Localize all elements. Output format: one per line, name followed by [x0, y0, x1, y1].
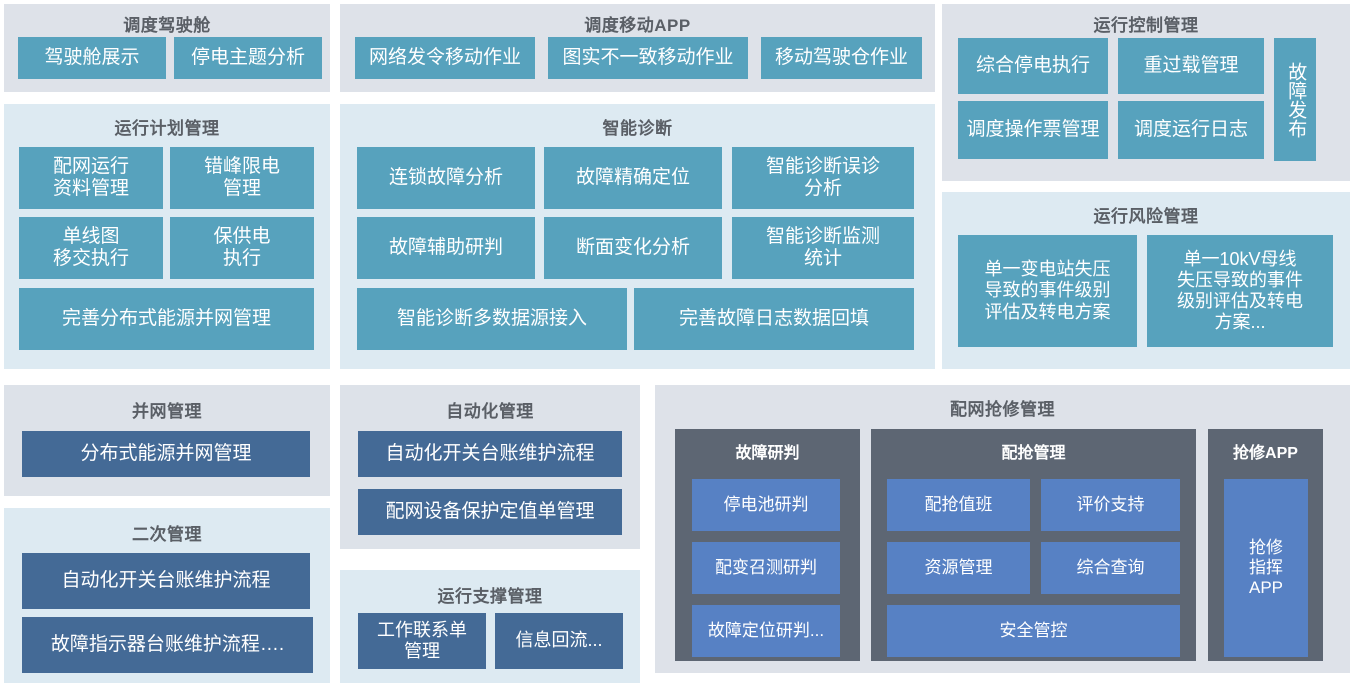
tile-label: 故障指示器台账维护流程…. — [47, 634, 288, 656]
subpanel-title-fault-judgement: 故障研判 — [675, 439, 860, 463]
panel-title-operation-risk-management: 运行风险管理 — [942, 192, 1350, 227]
tile-dispatch-mobile-app-0[interactable]: 网络发令移动作业 — [355, 37, 535, 79]
diagram-canvas: 调度驾驶舱 驾驶舱展示 停电主题分析 调度移动APP 网络发令移动作业 图实不一… — [0, 0, 1354, 687]
tile-dispatch-cockpit-1[interactable]: 停电主题分析 — [174, 37, 322, 79]
tile-label: 完善分布式能源并网管理 — [58, 308, 275, 330]
subpanel-title-repair-app: 抢修APP — [1208, 439, 1323, 463]
tile-repair-dispatch-1[interactable]: 评价支持 — [1041, 479, 1180, 531]
tile-label: 连锁故障分析 — [385, 167, 507, 189]
panel-operation-plan-management: 运行计划管理 配网运行 资料管理 错峰限电 管理 单线图 移交执行 保供电 执行… — [4, 104, 330, 369]
tile-operation-control-2[interactable]: 故障发布 — [1274, 38, 1316, 161]
tile-secondary-1[interactable]: 故障指示器台账维护流程…. — [22, 617, 313, 673]
tile-intelligent-diagnosis-2[interactable]: 智能诊断误诊 分析 — [732, 147, 914, 209]
tile-label: 调度操作票管理 — [962, 119, 1103, 141]
tile-fault-judgement-0[interactable]: 停电池研判 — [692, 479, 840, 531]
tile-label: 配网运行 资料管理 — [49, 156, 133, 201]
tile-operation-control-1[interactable]: 重过载管理 — [1118, 38, 1264, 94]
tile-label: 分布式能源并网管理 — [76, 443, 255, 465]
tile-operation-support-1[interactable]: 信息回流... — [495, 613, 623, 669]
tile-label: 重过载管理 — [1139, 55, 1242, 77]
tile-operation-plan-4[interactable]: 完善分布式能源并网管理 — [19, 288, 314, 350]
tile-label: 故障定位研判... — [704, 621, 828, 641]
subpanel-repair-app: 抢修APP 抢修 指挥 APP — [1208, 429, 1323, 661]
tile-secondary-0[interactable]: 自动化开关台账维护流程 — [22, 553, 310, 609]
tile-label: 综合查询 — [1073, 558, 1149, 578]
panel-operation-support-management: 运行支撑管理 工作联系单 管理 信息回流... — [340, 570, 640, 683]
tile-intelligent-diagnosis-5[interactable]: 智能诊断监测 统计 — [732, 217, 914, 279]
tile-label: 配网设备保护定值单管理 — [381, 501, 598, 523]
panel-title-dispatch-mobile-app: 调度移动APP — [340, 4, 935, 36]
tile-label: 移动驾驶仓作业 — [771, 47, 912, 69]
tile-label: 配抢值班 — [921, 495, 997, 515]
panel-title-operation-support-management: 运行支撑管理 — [340, 570, 640, 607]
tile-automation-1[interactable]: 配网设备保护定值单管理 — [358, 489, 622, 535]
tile-intelligent-diagnosis-4[interactable]: 断面变化分析 — [544, 217, 722, 279]
tile-automation-0[interactable]: 自动化开关台账维护流程 — [358, 431, 622, 477]
tile-operation-support-0[interactable]: 工作联系单 管理 — [358, 613, 486, 669]
tile-grid-connection-0[interactable]: 分布式能源并网管理 — [22, 431, 310, 477]
tile-operation-plan-0[interactable]: 配网运行 资料管理 — [19, 147, 163, 209]
panel-automation-management: 自动化管理 自动化开关台账维护流程 配网设备保护定值单管理 — [340, 385, 640, 549]
panel-title-dispatch-cockpit: 调度驾驶舱 — [4, 4, 330, 36]
tile-dispatch-cockpit-0[interactable]: 驾驶舱展示 — [18, 37, 166, 79]
tile-dispatch-mobile-app-1[interactable]: 图实不一致移动作业 — [548, 37, 748, 79]
tile-label: 评价支持 — [1073, 495, 1149, 515]
tile-repair-dispatch-0[interactable]: 配抢值班 — [887, 479, 1030, 531]
tile-label: 智能诊断监测 统计 — [762, 226, 884, 271]
tile-label: 错峰限电 管理 — [200, 156, 284, 201]
tile-operation-control-3[interactable]: 调度操作票管理 — [958, 101, 1108, 159]
tile-label: 停电池研判 — [720, 495, 813, 515]
tile-operation-risk-1[interactable]: 单一10kV母线 失压导致的事件 级别评估及转电 方案... — [1147, 235, 1333, 347]
tile-repair-dispatch-4[interactable]: 安全管控 — [887, 605, 1180, 657]
panel-intelligent-diagnosis: 智能诊断 连锁故障分析 故障精确定位 智能诊断误诊 分析 故障辅助研判 断面变化… — [340, 104, 935, 369]
tile-label: 自动化开关台账维护流程 — [57, 570, 274, 592]
tile-label: 单一变电站失压 导致的事件级别 评估及转电方案 — [981, 259, 1115, 323]
tile-label: 工作联系单 管理 — [373, 620, 471, 662]
tile-label: 信息回流... — [511, 630, 606, 651]
tile-operation-plan-2[interactable]: 单线图 移交执行 — [19, 217, 163, 279]
tile-label: 故障精确定位 — [572, 167, 694, 189]
panel-secondary-management: 二次管理 自动化开关台账维护流程 故障指示器台账维护流程…. — [4, 508, 330, 683]
panel-dispatch-cockpit: 调度驾驶舱 驾驶舱展示 停电主题分析 — [4, 4, 330, 92]
subpanel-fault-judgement: 故障研判 停电池研判 配变召测研判 故障定位研判... — [675, 429, 860, 661]
tile-intelligent-diagnosis-0[interactable]: 连锁故障分析 — [357, 147, 535, 209]
panel-title-secondary-management: 二次管理 — [4, 508, 330, 545]
tile-label: 完善故障日志数据回填 — [675, 308, 873, 330]
tile-label: 抢修 指挥 APP — [1245, 538, 1287, 598]
tile-label: 安全管控 — [996, 621, 1072, 641]
panel-distribution-repair-management: 配网抢修管理 故障研判 停电池研判 配变召测研判 故障定位研判... 配抢管理 … — [655, 385, 1350, 673]
tile-operation-control-0[interactable]: 综合停电执行 — [958, 38, 1108, 94]
tile-repair-dispatch-3[interactable]: 综合查询 — [1041, 542, 1180, 594]
tile-label: 断面变化分析 — [572, 237, 694, 259]
tile-fault-judgement-2[interactable]: 故障定位研判... — [692, 605, 840, 657]
tile-intelligent-diagnosis-1[interactable]: 故障精确定位 — [544, 147, 722, 209]
tile-label: 综合停电执行 — [972, 55, 1094, 77]
tile-label: 停电主题分析 — [187, 47, 309, 69]
tile-operation-plan-1[interactable]: 错峰限电 管理 — [170, 147, 314, 209]
tile-label: 驾驶舱展示 — [40, 47, 143, 69]
panel-title-operation-plan-management: 运行计划管理 — [4, 104, 330, 139]
tile-label: 调度运行日志 — [1130, 119, 1252, 141]
panel-title-distribution-repair-management: 配网抢修管理 — [655, 385, 1350, 420]
panel-dispatch-mobile-app: 调度移动APP 网络发令移动作业 图实不一致移动作业 移动驾驶仓作业 — [340, 4, 935, 92]
panel-operation-control-management: 运行控制管理 综合停电执行 重过载管理 故障发布 调度操作票管理 调度运行日志 — [942, 4, 1350, 181]
panel-title-operation-control-management: 运行控制管理 — [942, 4, 1350, 36]
tile-fault-judgement-1[interactable]: 配变召测研判 — [692, 542, 840, 594]
tile-intelligent-diagnosis-7[interactable]: 完善故障日志数据回填 — [634, 288, 914, 350]
tile-operation-plan-3[interactable]: 保供电 执行 — [170, 217, 314, 279]
tile-label: 单一10kV母线 失压导致的事件 级别评估及转电 方案... — [1173, 249, 1307, 334]
panel-grid-connection-management: 并网管理 分布式能源并网管理 — [4, 385, 330, 496]
tile-operation-risk-0[interactable]: 单一变电站失压 导致的事件级别 评估及转电方案 — [958, 235, 1137, 347]
tile-label: 资源管理 — [921, 558, 997, 578]
tile-operation-control-4[interactable]: 调度运行日志 — [1118, 101, 1264, 159]
tile-repair-app-0[interactable]: 抢修 指挥 APP — [1224, 479, 1308, 657]
subpanel-title-repair-dispatch-management: 配抢管理 — [871, 439, 1196, 463]
tile-intelligent-diagnosis-6[interactable]: 智能诊断多数据源接入 — [357, 288, 627, 350]
tile-repair-dispatch-2[interactable]: 资源管理 — [887, 542, 1030, 594]
tile-intelligent-diagnosis-3[interactable]: 故障辅助研判 — [357, 217, 535, 279]
panel-operation-risk-management: 运行风险管理 单一变电站失压 导致的事件级别 评估及转电方案 单一10kV母线 … — [942, 192, 1350, 369]
tile-label: 单线图 移交执行 — [49, 226, 133, 271]
tile-label: 网络发令移动作业 — [365, 47, 525, 69]
tile-label: 智能诊断多数据源接入 — [393, 308, 591, 330]
panel-title-automation-management: 自动化管理 — [340, 385, 640, 422]
panel-title-grid-connection-management: 并网管理 — [4, 385, 330, 422]
tile-dispatch-mobile-app-2[interactable]: 移动驾驶仓作业 — [761, 37, 922, 79]
panel-title-intelligent-diagnosis: 智能诊断 — [340, 104, 935, 139]
tile-label: 故障发布 — [1280, 62, 1310, 138]
tile-label: 保供电 执行 — [209, 226, 274, 271]
subpanel-repair-dispatch-management: 配抢管理 配抢值班 评价支持 资源管理 综合查询 安全管控 — [871, 429, 1196, 661]
tile-label: 配变召测研判 — [711, 558, 821, 578]
tile-label: 自动化开关台账维护流程 — [381, 443, 598, 465]
tile-label: 智能诊断误诊 分析 — [762, 156, 884, 201]
tile-label: 故障辅助研判 — [385, 237, 507, 259]
tile-label: 图实不一致移动作业 — [558, 47, 737, 69]
